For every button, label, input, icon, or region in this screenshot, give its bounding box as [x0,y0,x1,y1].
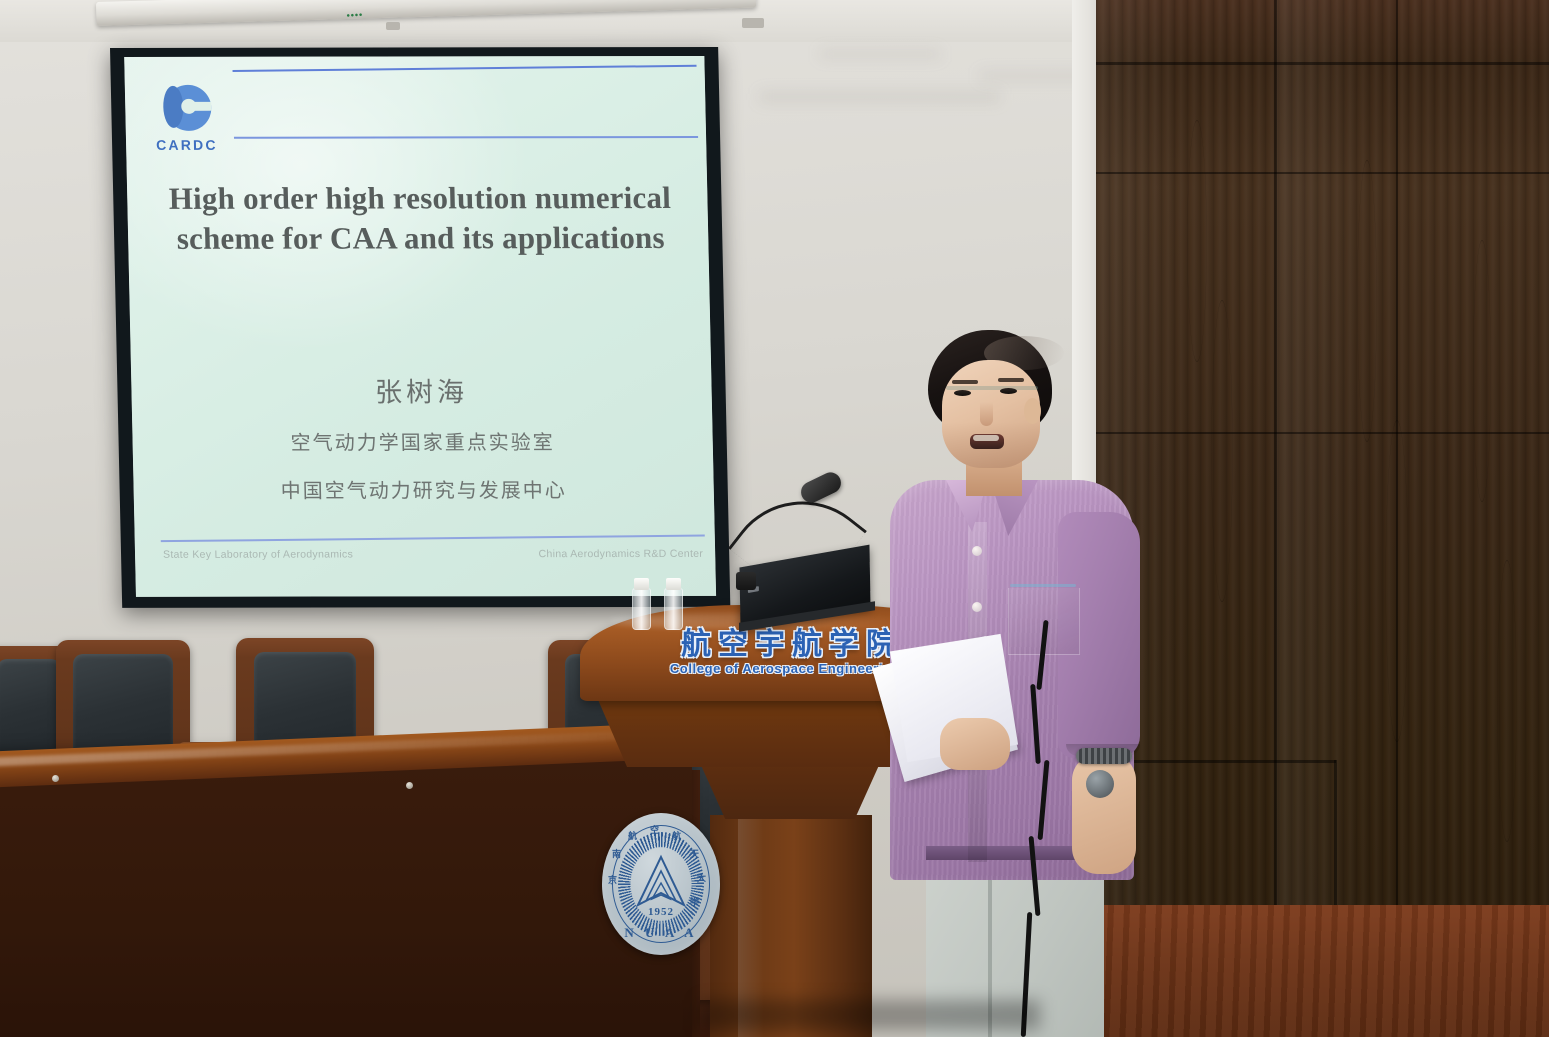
slide-footer-left: State Key Laboratory of Aerodynamics [163,548,353,560]
cardc-logo-icon [163,83,218,137]
lectern-neck [700,763,880,819]
slide-title-line-2: scheme for CAA and its applications [168,218,674,259]
roller-label: ●●●● [346,12,363,19]
projection-screen: CARDC High order high resolution numeric… [110,47,730,608]
microphone-base [736,572,756,590]
presenter [880,330,1140,1037]
slide-title: High order high resolution numerical sch… [167,178,674,258]
slide-affiliation-2: 中国空气动力研究与发展中心 [133,474,714,504]
slide-affiliation-1: 空气动力学国家重点实验室 [132,426,713,456]
emblem-year: 1952 [602,906,720,918]
water-bottle [664,588,683,630]
presentation-photo-scene: ●●●● CARDC High order high resolution nu… [0,0,1549,1037]
emblem-acronym: N U A A [602,925,720,941]
presenter-hand [940,718,1010,770]
slide-title-line-1: High order high resolution numerical [167,178,673,219]
presenter-eye [954,390,971,396]
roller-bracket [386,22,400,30]
nuaa-emblem-icon: 航 空 航 天 大 学 南 京 1952 N U A A [602,813,720,955]
cardc-wordmark: CARDC [156,137,218,153]
wall-mark [820,50,940,58]
slide-rule-bottom [161,534,705,541]
slide-footer-right: China Aerodynamics R&D Center [538,548,703,560]
presenter-eye [1000,388,1017,394]
wall-mark [760,92,1000,102]
water-bottle [632,588,651,630]
presenter-nose [980,402,993,426]
presentation-slide: CARDC High order high resolution numeric… [124,56,716,597]
roller-bracket [742,18,764,28]
screen-surface: CARDC High order high resolution numeric… [124,56,716,597]
presenter-ear [1024,398,1041,424]
presenter-bracelet [1076,748,1132,764]
wood-panel-wall [1096,0,1549,1037]
presenter-mouth [970,434,1004,449]
table-fastener [52,775,59,782]
presenter-watch [1086,770,1114,798]
table-fastener [406,782,413,789]
floor-shadow [700,1000,1040,1030]
slide-speaker-name: 张树海 [131,370,712,410]
